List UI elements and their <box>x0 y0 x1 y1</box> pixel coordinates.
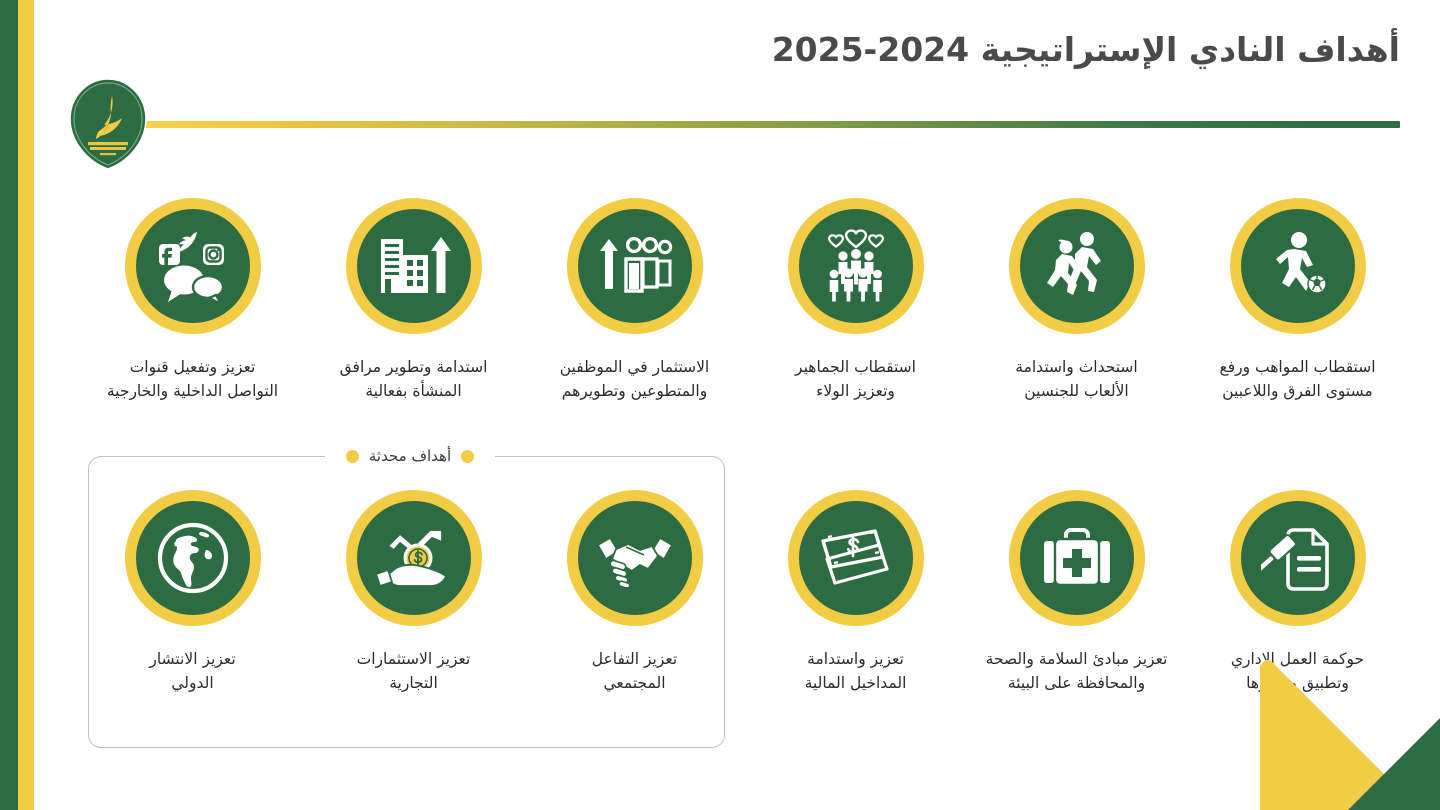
people-growth-icon <box>596 233 674 299</box>
facebook-icon <box>159 244 180 265</box>
goal-label: تعزيز التفاعل المجتمعي <box>540 648 730 695</box>
globe-icon <box>155 520 231 596</box>
goals-row-1: استقطاب المواهب ورفع مستوى الفرق واللاعب… <box>78 198 1408 403</box>
left-edge-green-stripe <box>0 0 18 810</box>
goal-label: استدامة وتطوير مرافق المنشأة بفعالية <box>319 356 509 403</box>
goals-row-2: حوكمة العمل الإداري وتطبيق معاييرها تعزي… <box>78 490 1408 695</box>
updated-goals-tag: أهداف محدثة <box>325 443 495 469</box>
goal-label: تعزيز واستدامة المداخيل المالية <box>761 648 951 695</box>
goal-item[interactable]: تعزيز الانتشار الدولي <box>82 490 303 695</box>
goal-badge <box>346 490 482 626</box>
khaleej-club-logo-icon <box>62 76 154 172</box>
goal-badge <box>1230 198 1366 334</box>
handshake-icon <box>596 529 674 587</box>
goal-badge <box>567 198 703 334</box>
goal-item[interactable]: الاستثمار في الموظفين والمتطوعين وتطويره… <box>524 198 745 403</box>
header: أهداف النادي الإستراتيجية 2024-2025 <box>140 0 1440 150</box>
goal-label: استحداث واستدامة الألعاب للجنسين <box>982 356 1172 403</box>
corner-decoration <box>1260 660 1440 810</box>
goal-badge <box>788 490 924 626</box>
goal-badge <box>1009 198 1145 334</box>
left-edge-yellow-stripe <box>18 0 34 810</box>
title-gradient-rule <box>145 121 1400 128</box>
goal-badge <box>1230 490 1366 626</box>
goal-item[interactable]: تعزيز واستدامة المداخيل المالية <box>745 490 966 695</box>
goal-item[interactable]: تعزيز التفاعل المجتمعي <box>524 490 745 695</box>
goal-badge <box>567 490 703 626</box>
goal-badge <box>788 198 924 334</box>
goal-label: استقطاب المواهب ورفع مستوى الفرق واللاعب… <box>1203 356 1393 403</box>
banknotes-icon <box>817 527 895 589</box>
crowd-hearts-icon <box>817 229 895 303</box>
tag-dot-right <box>461 450 474 463</box>
goal-badge <box>346 198 482 334</box>
goal-item[interactable]: استقطاب الجماهير وتعزيز الولاء <box>745 198 966 403</box>
updated-goals-label: أهداف محدثة <box>359 447 461 465</box>
goal-label: تعزيز مبادئ السلامة والصحة والمحافظة على… <box>982 648 1172 695</box>
goal-badge <box>125 198 261 334</box>
goal-label: استقطاب الجماهير وتعزيز الولاء <box>761 356 951 403</box>
goal-item[interactable]: استقطاب المواهب ورفع مستوى الفرق واللاعب… <box>1187 198 1408 403</box>
page-title: أهداف النادي الإستراتيجية 2024-2025 <box>772 28 1400 73</box>
goal-item[interactable]: استدامة وتطوير مرافق المنشأة بفعالية <box>303 198 524 403</box>
social-media-icon <box>153 228 233 304</box>
goal-label: تعزيز الاستثمارات التجارية <box>319 648 509 695</box>
tag-dot-left <box>346 450 359 463</box>
corner-green-triangle <box>1348 718 1440 810</box>
goal-item[interactable]: تعزيز الاستثمارات التجارية <box>303 490 524 695</box>
goal-label: تعزيز وتفعيل قنوات التواصل الداخلية والخ… <box>98 356 288 403</box>
goal-item[interactable]: تعزيز وتفعيل قنوات التواصل الداخلية والخ… <box>82 198 303 403</box>
infographic-canvas: أهداف النادي الإستراتيجية 2024-2025 <box>0 0 1440 810</box>
runners-icon <box>1039 230 1115 302</box>
building-growth-icon <box>375 233 453 299</box>
instagram-icon <box>203 244 224 265</box>
gavel-document-icon <box>1261 522 1335 594</box>
hand-coin-growth-icon <box>374 524 454 592</box>
club-logo <box>62 76 154 172</box>
goal-item[interactable]: تعزيز مبادئ السلامة والصحة والمحافظة على… <box>966 490 1187 695</box>
goal-badge <box>125 490 261 626</box>
goal-label: تعزيز الانتشار الدولي <box>98 648 288 695</box>
medical-kit-icon <box>1040 525 1114 591</box>
twitter-icon <box>179 232 197 252</box>
goal-item[interactable]: استحداث واستدامة الألعاب للجنسين <box>966 198 1187 403</box>
goal-label: الاستثمار في الموظفين والمتطوعين وتطويره… <box>540 356 730 403</box>
soccer-player-icon <box>1261 229 1335 303</box>
goal-badge <box>1009 490 1145 626</box>
